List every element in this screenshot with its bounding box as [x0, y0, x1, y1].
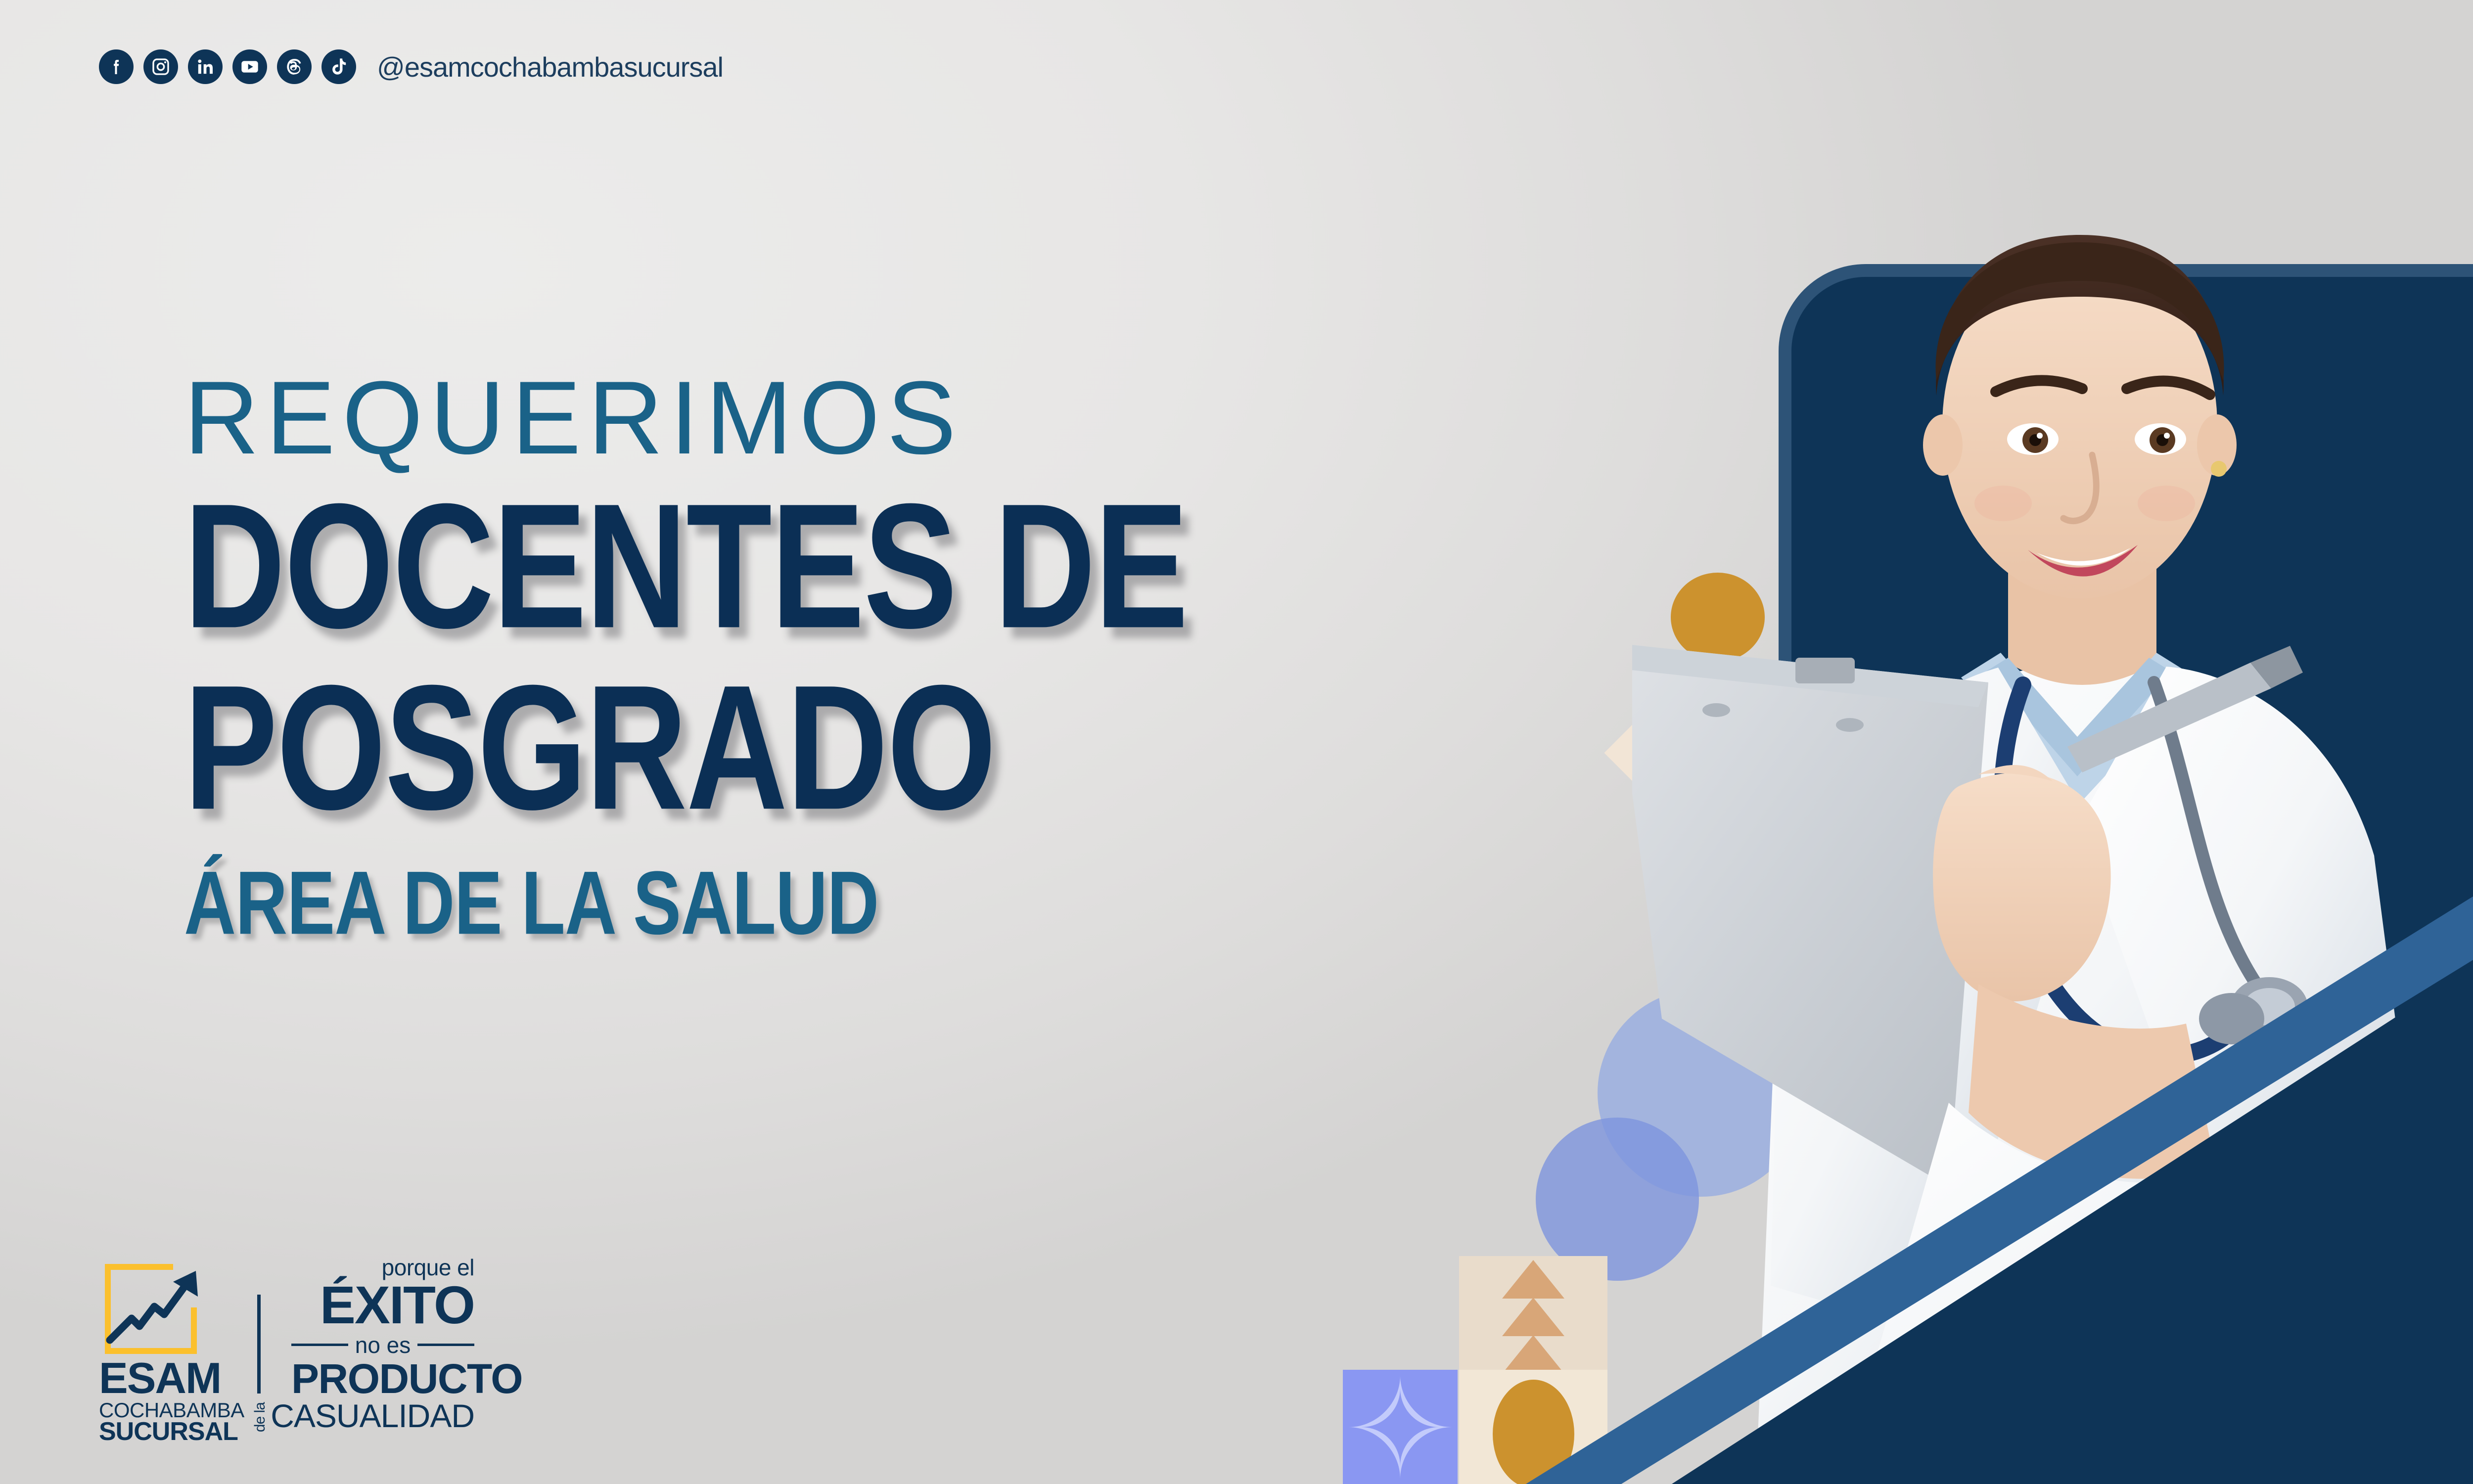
- esam-logo: ESAM COCHABAMBA SUCURSAL: [99, 1260, 227, 1428]
- social-handle: @esamcochabambasucursal: [377, 51, 723, 83]
- rule-left: [291, 1344, 348, 1346]
- rule-right: [417, 1344, 474, 1346]
- esam-name: ESAM: [99, 1357, 244, 1399]
- growth-arrow-icon: [99, 1260, 209, 1354]
- triangle-glyph: [1502, 1298, 1564, 1336]
- triangle-glyph: [1502, 1260, 1564, 1299]
- facebook-icon[interactable]: [99, 49, 134, 84]
- esam-wordmark: ESAM COCHABAMBA SUCURSAL: [99, 1357, 244, 1444]
- youtube-icon[interactable]: [232, 49, 267, 84]
- tagline-producto: PRODUCTO: [291, 1359, 474, 1399]
- tagline-casualidad: CASUALIDAD: [271, 1399, 474, 1432]
- headline-line-1: DOCENTES DE: [184, 484, 1600, 649]
- headline-block: REQUERIMOS DOCENTES DE POSGRADO ÁREA DE …: [184, 366, 1519, 938]
- promo-banner: @esamcochabambasucursal REQUERIMOS DOCEN…: [0, 0, 2473, 1484]
- headline-line-2: POSGRADO: [184, 665, 1600, 830]
- gold-ellipse-decoration: [1493, 1380, 1574, 1484]
- tagline-dela: de la: [253, 1402, 268, 1432]
- tagline-casualidad-row: de la CASUALIDAD: [291, 1399, 474, 1432]
- lockup-divider: [257, 1295, 261, 1394]
- headline-eyebrow: REQUERIMOS: [184, 366, 1519, 470]
- instagram-icon[interactable]: [143, 49, 178, 84]
- periwinkle-tile-star: [1343, 1370, 1458, 1484]
- beige-tile-triangles: [1459, 1256, 1607, 1370]
- triangle-glyph: [1502, 1335, 1564, 1374]
- tagline-line-3: no es: [355, 1334, 411, 1356]
- threads-icon[interactable]: [277, 49, 312, 84]
- tiktok-icon[interactable]: [321, 49, 356, 84]
- tagline-exito: ÉXITO: [291, 1280, 474, 1331]
- four-point-star-icon: [1346, 1373, 1454, 1481]
- tagline-block: porque el ÉXITO no es PRODUCTO de la CAS…: [291, 1256, 474, 1432]
- linkedin-icon[interactable]: [188, 49, 223, 84]
- headline-subline: ÁREA DE LA SALUD: [184, 858, 1573, 948]
- logo-lockup: ESAM COCHABAMBA SUCURSAL porque el ÉXITO…: [99, 1256, 474, 1432]
- esam-branch: SUCURSAL: [99, 1419, 244, 1444]
- tagline-noes-row: no es: [291, 1334, 474, 1356]
- doctor-photo: [1632, 148, 2473, 1484]
- social-bar: @esamcochabambasucursal: [99, 49, 723, 84]
